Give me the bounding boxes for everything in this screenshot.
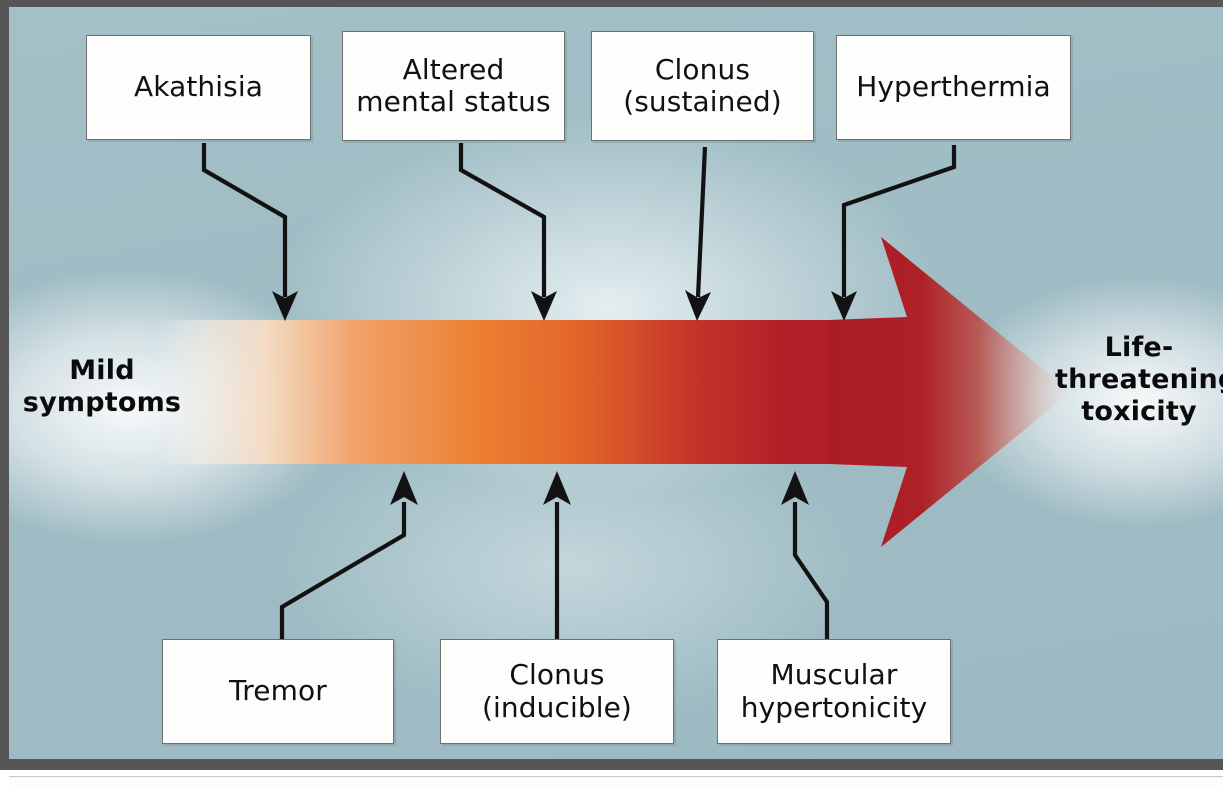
connector-tremor [282, 471, 418, 647]
symptom-box-muscular-hypertonicity[interactable]: Muscular hypertonicity [717, 639, 951, 744]
figure-canvas: Akathisia Altered mental status Clonus (… [9, 7, 1223, 759]
symptom-label-clonus-inducible-line-2: (inducible) [482, 692, 632, 724]
connector-muscular-hypertonicity [781, 471, 827, 647]
symptom-box-clonus-inducible[interactable]: Clonus (inducible) [440, 639, 674, 744]
connector-clonus-inducible [543, 471, 571, 647]
spectrum-right-label-line-1: Life- [1105, 332, 1174, 363]
figure-bottom-strip [0, 770, 1223, 788]
spectrum-left-label: Mild symptoms [9, 355, 195, 419]
connector-hyperthermia [831, 145, 954, 321]
symptom-box-altered-mental-status[interactable]: Altered mental status [342, 31, 565, 141]
spectrum-right-label: Life- threatening toxicity [1055, 332, 1223, 428]
spectrum-left-label-line-2: symptoms [23, 387, 181, 418]
spectrum-right-label-line-3: toxicity [1081, 396, 1197, 427]
symptom-box-akathisia[interactable]: Akathisia [86, 35, 311, 140]
symptom-label-clonus-sustained-line-2: (sustained) [623, 86, 782, 118]
connector-altered-mental-status [461, 143, 557, 321]
spectrum-left-label-line-1: Mild [69, 355, 135, 386]
symptom-box-tremor[interactable]: Tremor [162, 639, 394, 744]
serotonin-syndrome-spectrum-figure: Akathisia Altered mental status Clonus (… [0, 0, 1223, 788]
symptom-label-hyperthermia-line-1: Hyperthermia [856, 71, 1051, 103]
symptom-label-akathisia-line-1: Akathisia [134, 71, 263, 103]
spectrum-right-label-line-2: threatening [1055, 364, 1223, 395]
symptom-label-muscular-hypertonicity-line-2: hypertonicity [741, 692, 928, 724]
symptom-box-clonus-sustained[interactable]: Clonus (sustained) [591, 31, 814, 141]
symptom-label-tremor-line-1: Tremor [229, 675, 327, 707]
symptom-label-altered-mental-status-line-2: mental status [356, 86, 550, 118]
symptom-label-clonus-sustained-line-1: Clonus [623, 54, 782, 86]
symptom-label-muscular-hypertonicity-line-1: Muscular [741, 659, 928, 691]
connector-clonus-sustained [685, 147, 711, 321]
symptom-box-hyperthermia[interactable]: Hyperthermia [836, 35, 1071, 140]
symptom-label-altered-mental-status-line-1: Altered [356, 54, 550, 86]
connector-akathisia [204, 143, 298, 321]
symptom-label-clonus-inducible-line-1: Clonus [482, 659, 632, 691]
